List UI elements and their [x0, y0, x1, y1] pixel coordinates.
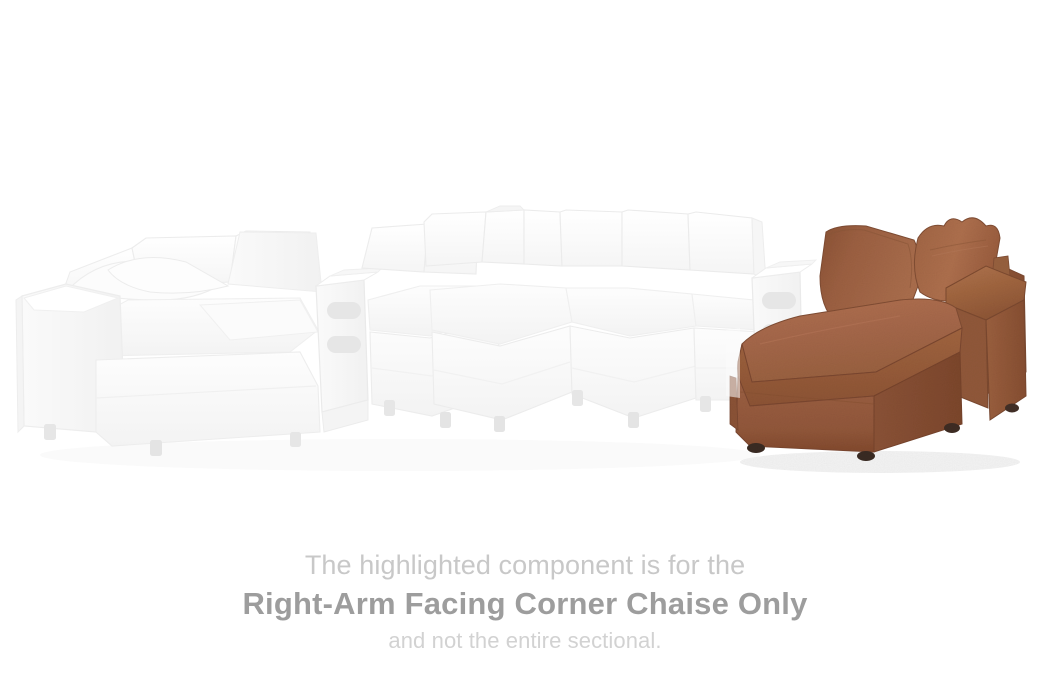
caption-line-2-component-name: Right-Arm Facing Corner Chaise Only — [0, 582, 1050, 626]
sofa-leg — [494, 416, 505, 432]
chaise-arm-outer — [986, 300, 1026, 420]
chaise-foot — [944, 423, 960, 433]
sectional-piece-left-loveseat — [16, 231, 322, 456]
chaise-foot — [857, 451, 875, 461]
sofa-leg — [44, 424, 56, 440]
sofa-leg — [150, 440, 162, 456]
sectional-illustration — [0, 0, 1050, 500]
sofa-leg — [440, 412, 451, 428]
sofa-leg — [572, 390, 583, 406]
sofa-leg — [290, 432, 301, 447]
chaise-foot — [747, 443, 765, 453]
chaise-foot — [1005, 404, 1019, 413]
product-image-canvas: The highlighted component is for the Rig… — [0, 0, 1050, 700]
sectional-piece-corner-wedge — [424, 206, 572, 432]
component-caption: The highlighted component is for the Rig… — [0, 548, 1050, 656]
console-panel — [327, 302, 361, 319]
sofa-leg — [384, 400, 395, 416]
faded-overlap-fragments — [726, 328, 740, 398]
caption-line-1: The highlighted component is for the — [0, 548, 1050, 582]
highlighted-raf-corner-chaise — [730, 218, 1026, 473]
console-panel — [327, 336, 361, 353]
sofa-leg — [628, 412, 639, 428]
sectional-piece-armless-chair-right-1 — [560, 210, 696, 428]
faded-sectional-group — [16, 206, 816, 471]
caption-line-3: and not the entire sectional. — [0, 626, 1050, 656]
console-panel — [762, 292, 796, 309]
sofa-leg — [700, 396, 711, 412]
